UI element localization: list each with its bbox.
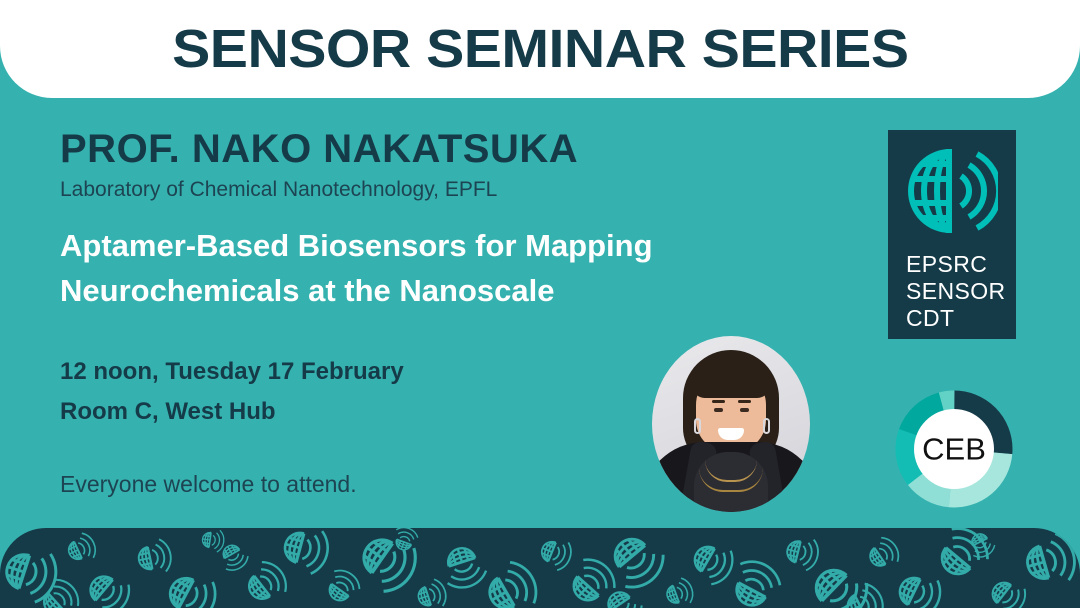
epsrc-logo-line-1: EPSRC: [906, 251, 1016, 278]
portrait-eye-left: [714, 408, 723, 412]
epsrc-sensor-cdt-logo: EPSRC SENSOR CDT: [888, 130, 1016, 339]
speaker-portrait: [652, 336, 810, 512]
bottom-pattern-band: [0, 528, 1080, 608]
portrait-brow-left: [712, 400, 725, 403]
globe-signal-icon: [906, 147, 998, 235]
epsrc-logo-line-2: SENSOR: [906, 278, 1016, 305]
ceb-logo: CEB: [895, 390, 1013, 508]
epsrc-logo-text: EPSRC SENSOR CDT: [906, 251, 1016, 332]
seminar-poster: SENSOR SEMINAR SERIES PROF. NAKO NAKATSU…: [0, 0, 1080, 608]
globe-pattern: [0, 528, 1080, 608]
portrait-earring-left: [694, 418, 701, 434]
portrait-eye-right: [740, 408, 749, 412]
talk-title-line-2: Neurochemicals at the Nanoscale: [60, 269, 850, 314]
speaker-name: PROF. NAKO NAKATSUKA: [60, 128, 860, 170]
talk-title: Aptamer-Based Biosensors for Mapping Neu…: [60, 224, 850, 314]
portrait-brow-right: [738, 400, 751, 403]
portrait-fringe: [692, 364, 770, 398]
portrait-earring-right: [763, 418, 770, 434]
epsrc-logo-line-3: CDT: [906, 305, 1016, 332]
page-title: SENSOR SEMINAR SERIES: [172, 22, 908, 76]
speaker-affiliation: Laboratory of Chemical Nanotechnology, E…: [60, 177, 860, 202]
talk-title-line-1: Aptamer-Based Biosensors for Mapping: [60, 224, 850, 269]
svg-text:CEB: CEB: [922, 432, 986, 467]
header-band: SENSOR SEMINAR SERIES: [0, 0, 1080, 98]
